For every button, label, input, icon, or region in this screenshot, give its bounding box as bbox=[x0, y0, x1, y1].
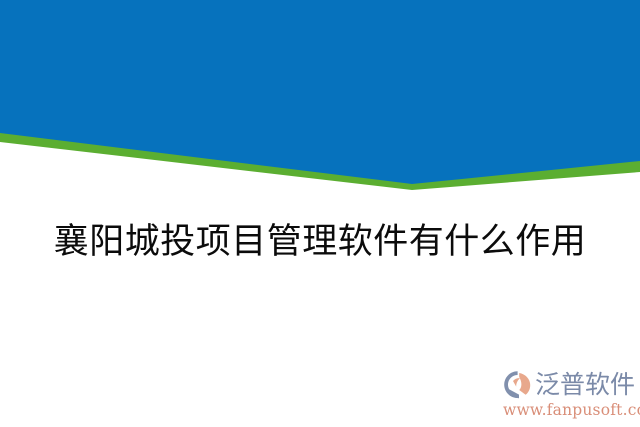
logo-url: www.fanpusoft.com bbox=[503, 401, 640, 419]
blue-chevron-banner bbox=[0, 0, 640, 200]
brand-logo: 泛普软件 www.fanpusoft.com bbox=[503, 368, 640, 423]
page-title: 襄阳城投项目管理软件有什么作用 bbox=[0, 219, 640, 265]
logo-row: 泛普软件 bbox=[503, 368, 640, 400]
logo-wordmark: 泛普软件 bbox=[535, 370, 635, 399]
fanpu-swoosh-icon bbox=[503, 370, 532, 399]
blue-banner-body bbox=[0, 0, 640, 184]
banner-shape bbox=[0, 0, 640, 200]
slide-canvas: 襄阳城投项目管理软件有什么作用 泛普软件 www.fanpusoft.com bbox=[0, 0, 640, 427]
